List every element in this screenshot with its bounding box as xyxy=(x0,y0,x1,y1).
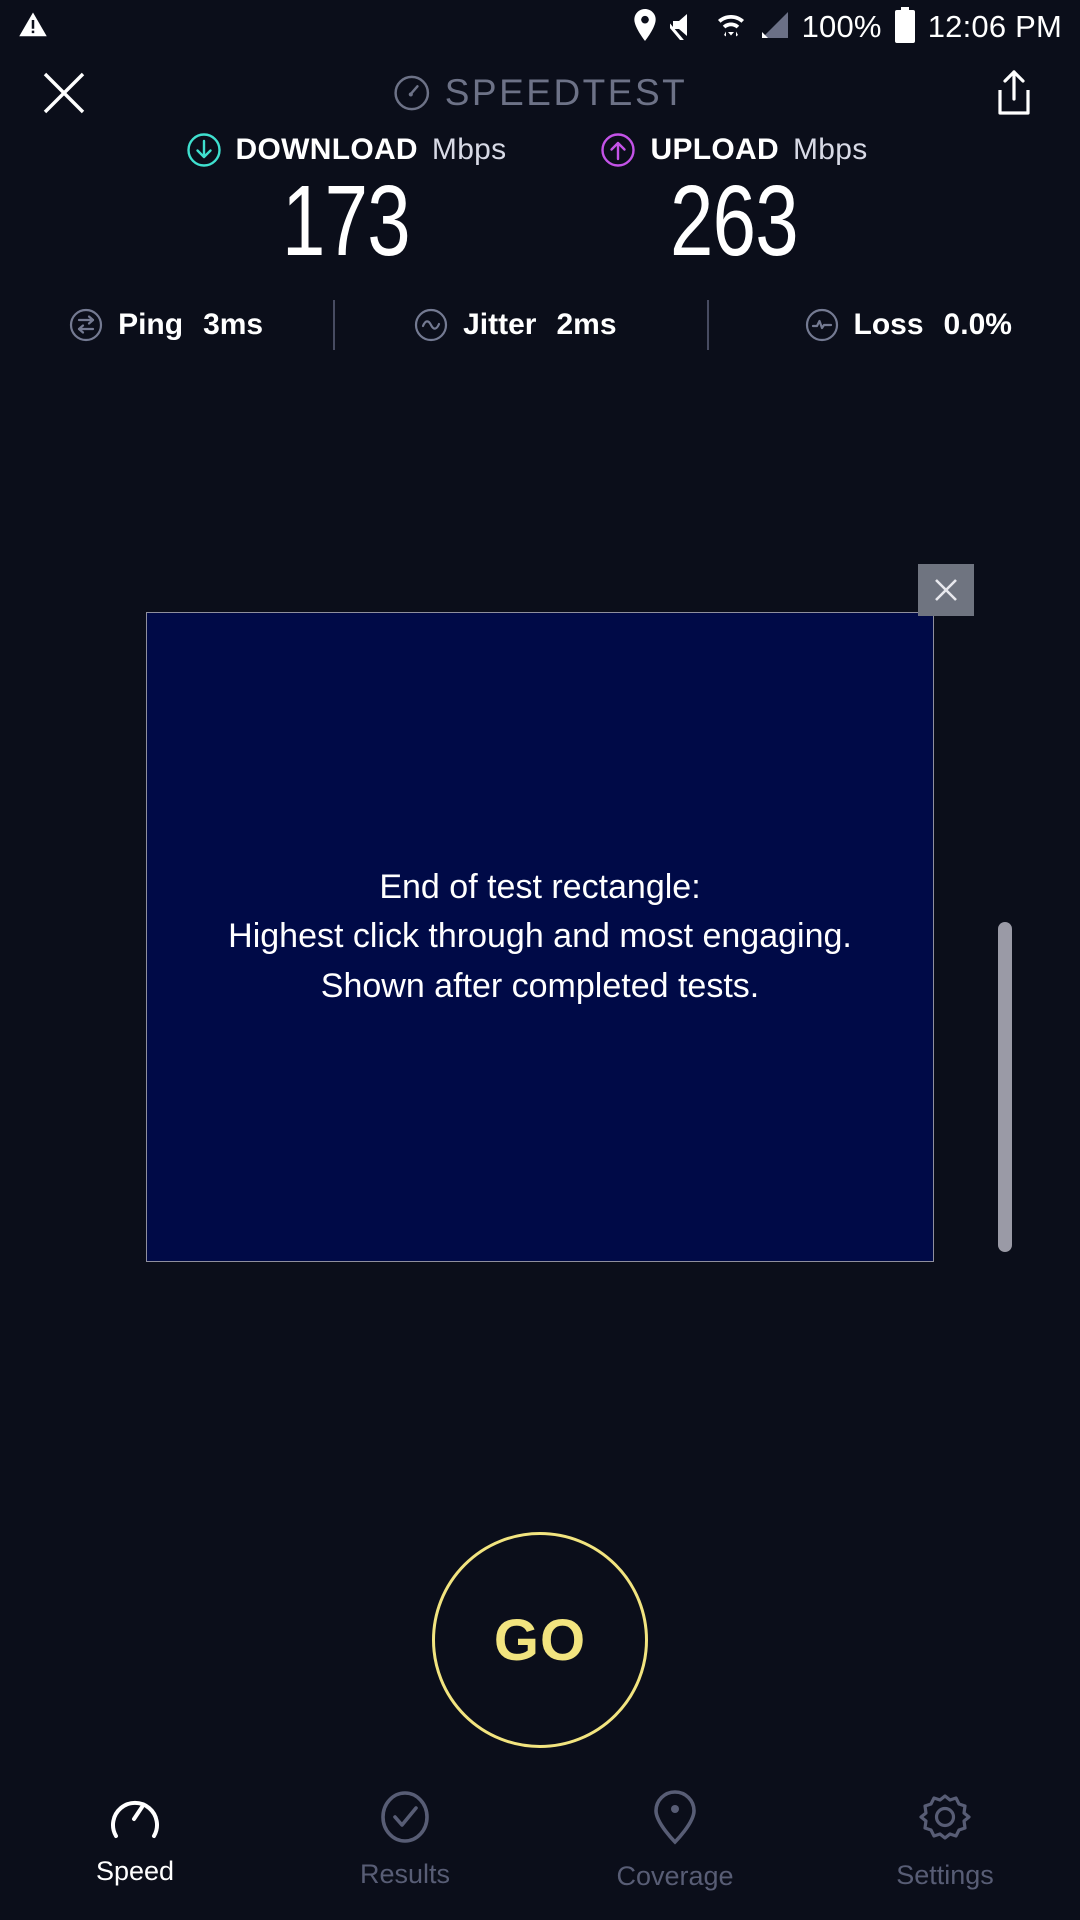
warning-triangle-icon xyxy=(18,10,48,45)
download-result: DOWNLOAD Mbps 173 xyxy=(156,132,536,272)
metric-jitter-label: Jitter xyxy=(463,308,536,342)
ad-line-2: Highest click through and most engaging. xyxy=(228,912,852,961)
battery-full-icon xyxy=(894,7,916,48)
ad-close-button[interactable] xyxy=(918,564,974,616)
cellular-signal-icon xyxy=(758,9,790,46)
map-pin-icon xyxy=(652,1789,698,1845)
download-caption: DOWNLOAD xyxy=(236,133,418,167)
loss-icon xyxy=(804,307,840,343)
nav-label-results: Results xyxy=(360,1859,450,1890)
nav-item-coverage[interactable]: Coverage xyxy=(540,1760,810,1920)
ad-line-1: End of test rectangle: xyxy=(228,863,852,912)
nav-item-results[interactable]: Results xyxy=(270,1760,540,1920)
upload-result: UPLOAD Mbps 263 xyxy=(544,132,924,272)
go-button-label: GO xyxy=(494,1607,586,1674)
volume-muted-icon xyxy=(670,10,704,45)
metric-ping: Ping 3ms xyxy=(68,307,263,343)
download-value: 173 xyxy=(282,170,410,272)
connection-metrics-row: Ping 3ms Jitter 2ms Loss 0.0% xyxy=(0,300,1080,350)
advertisement-banner[interactable]: End of test rectangle: Highest click thr… xyxy=(146,612,934,1262)
close-x-icon xyxy=(41,70,87,116)
brand: SPEEDTEST xyxy=(393,72,688,114)
gear-icon xyxy=(918,1790,972,1844)
share-upload-icon xyxy=(994,69,1034,117)
nav-item-speed[interactable]: Speed xyxy=(0,1760,270,1920)
battery-percent-label: 100% xyxy=(802,9,882,45)
share-button[interactable] xyxy=(988,65,1040,121)
nav-label-settings: Settings xyxy=(896,1860,994,1891)
speedometer-icon xyxy=(107,1794,163,1840)
upload-value: 263 xyxy=(670,170,798,272)
download-unit: Mbps xyxy=(432,133,507,167)
advertisement-text: End of test rectangle: Highest click thr… xyxy=(228,863,852,1011)
advertisement-container: End of test rectangle: Highest click thr… xyxy=(146,612,934,1262)
nav-item-settings[interactable]: Settings xyxy=(810,1760,1080,1920)
metric-jitter-value: 2ms xyxy=(556,308,616,342)
close-button[interactable] xyxy=(36,65,92,121)
ping-icon xyxy=(68,307,104,343)
speedometer-icon xyxy=(393,74,431,112)
upload-caption: UPLOAD xyxy=(650,133,778,167)
jitter-icon xyxy=(413,307,449,343)
metric-loss: Loss 0.0% xyxy=(804,307,1012,343)
check-circle-icon xyxy=(379,1791,431,1843)
metric-divider xyxy=(333,300,335,350)
location-pin-icon xyxy=(632,9,658,46)
brand-title: SPEEDTEST xyxy=(445,72,688,114)
metric-jitter: Jitter 2ms xyxy=(413,307,616,343)
go-button[interactable]: GO xyxy=(432,1532,648,1748)
clock-label: 12:06 PM xyxy=(928,9,1062,45)
metric-divider xyxy=(707,300,709,350)
download-arrow-icon xyxy=(186,132,222,168)
wifi-icon xyxy=(716,9,746,46)
nav-label-speed: Speed xyxy=(96,1856,174,1887)
metric-ping-label: Ping xyxy=(118,308,183,342)
speed-results: DOWNLOAD Mbps 173 UPLOAD Mbps 263 xyxy=(0,132,1080,272)
ad-close-x-icon xyxy=(931,575,961,605)
page-scrollbar[interactable] xyxy=(998,922,1012,1252)
nav-label-coverage: Coverage xyxy=(616,1861,733,1892)
app-header-bar: SPEEDTEST xyxy=(0,54,1080,132)
metric-ping-value: 3ms xyxy=(203,308,263,342)
ad-line-3: Shown after completed tests. xyxy=(228,962,852,1011)
bottom-navigation-bar: Speed Results Coverage Settings xyxy=(0,1760,1080,1920)
system-status-bar: 100% 12:06 PM xyxy=(0,0,1080,54)
upload-arrow-icon xyxy=(600,132,636,168)
upload-unit: Mbps xyxy=(793,133,868,167)
metric-loss-label: Loss xyxy=(854,308,924,342)
speedtest-app-screen: 100% 12:06 PM SPEEDTEST xyxy=(0,0,1080,1920)
metric-loss-value: 0.0% xyxy=(944,308,1012,342)
